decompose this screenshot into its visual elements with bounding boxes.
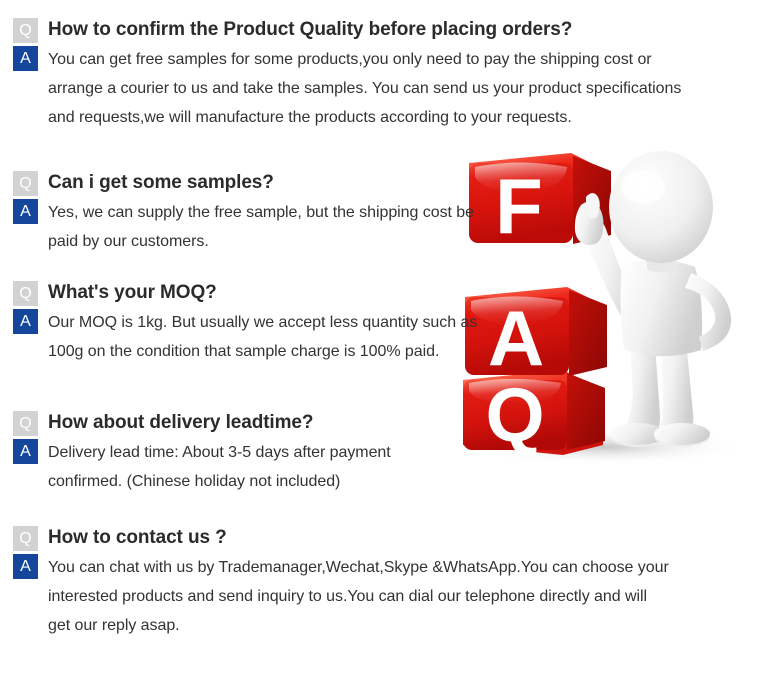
faq-question-row: Q How about delivery leadtime? (0, 409, 463, 436)
faq-item: Q Can i get some samples? A Yes, we can … (0, 169, 478, 256)
cube-a: A (465, 287, 607, 382)
faq-item: Q What's your MOQ? A Our MOQ is 1kg. But… (0, 279, 478, 366)
figure-head (609, 151, 713, 263)
figure-body (575, 151, 731, 356)
question-badge: Q (13, 411, 38, 436)
cube-q: Q (463, 370, 605, 458)
faq-answer-text: Delivery lead time: About 3-5 days after… (48, 438, 463, 496)
illustration-shadow (465, 429, 745, 465)
cube-f: F (469, 153, 611, 250)
cube-letter-a: A (488, 294, 544, 382)
faq-item: Q How to contact us ? A You can chat wit… (0, 524, 673, 640)
faq-answer-row: A Our MOQ is 1kg. But usually we accept … (0, 308, 478, 366)
faq-answer-row: A Delivery lead time: About 3-5 days aft… (0, 438, 463, 496)
faq-question-text: How to contact us ? (48, 524, 227, 551)
faq-answer-text: You can chat with us by Trademanager,Wec… (48, 553, 673, 640)
question-badge: Q (13, 18, 38, 43)
faq-answer-text: Yes, we can supply the free sample, but … (48, 198, 478, 256)
faq-question-text: Can i get some samples? (48, 169, 274, 196)
cube-letter-f: F (495, 162, 543, 250)
faq-question-row: Q What's your MOQ? (0, 279, 478, 306)
figure-legs (610, 340, 710, 447)
faq-answer-row: A You can get free samples for some prod… (0, 45, 688, 132)
question-badge: Q (13, 171, 38, 196)
faq-question-row: Q Can i get some samples? (0, 169, 478, 196)
answer-badge: A (13, 439, 38, 464)
faq-item: Q How to confirm the Product Quality bef… (0, 16, 688, 132)
question-badge: Q (13, 281, 38, 306)
faq-answer-row: A Yes, we can supply the free sample, bu… (0, 198, 478, 256)
faq-question-row: Q How to confirm the Product Quality bef… (0, 16, 688, 43)
faq-question-row: Q How to contact us ? (0, 524, 673, 551)
faq-answer-text: You can get free samples for some produc… (48, 45, 688, 132)
cube-letter-q: Q (485, 373, 544, 458)
faq-item: Q How about delivery leadtime? A Deliver… (0, 409, 463, 496)
faq-question-text: How about delivery leadtime? (48, 409, 313, 436)
faq-question-text: What's your MOQ? (48, 279, 217, 306)
question-badge: Q (13, 526, 38, 551)
faq-question-text: How to confirm the Product Quality befor… (48, 16, 572, 43)
faq-illustration: Q A F (455, 145, 765, 465)
answer-badge: A (13, 199, 38, 224)
faq-answer-text: Our MOQ is 1kg. But usually we accept le… (48, 308, 478, 366)
faq-answer-row: A You can chat with us by Trademanager,W… (0, 553, 673, 640)
answer-badge: A (13, 46, 38, 71)
answer-badge: A (13, 309, 38, 334)
answer-badge: A (13, 554, 38, 579)
